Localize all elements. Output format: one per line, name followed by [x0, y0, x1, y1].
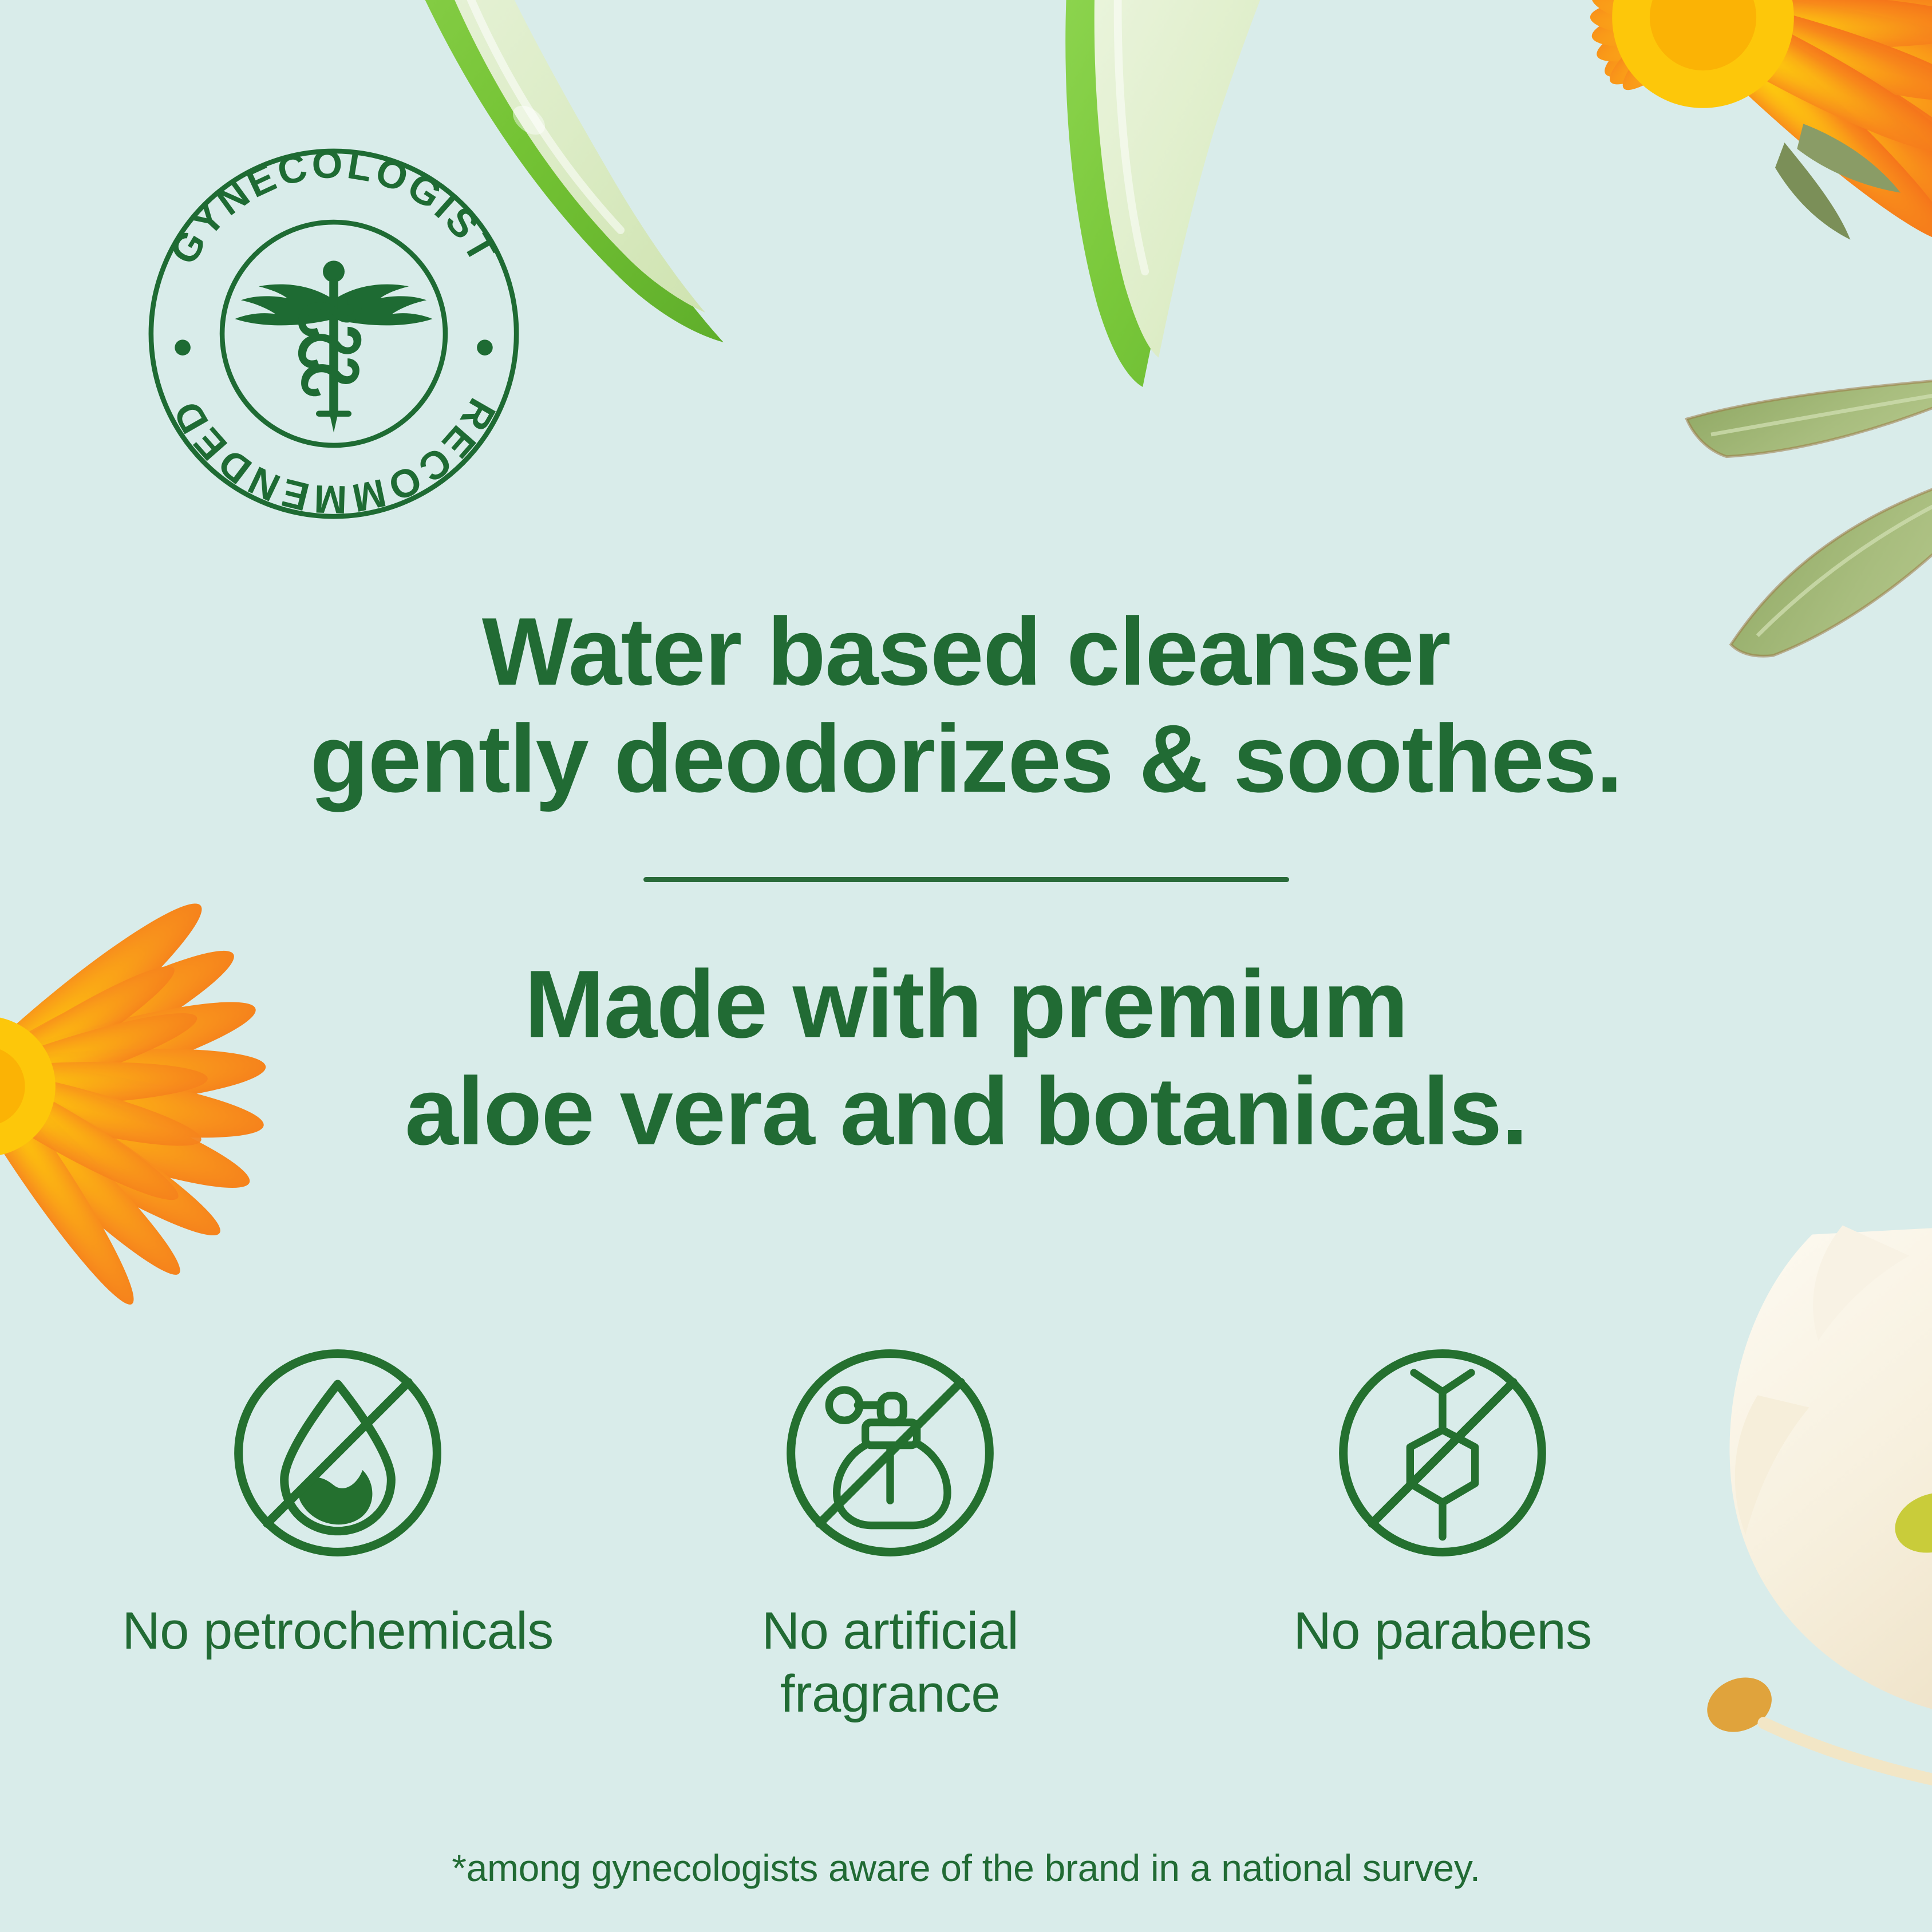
benefit-no-parabens: No parabens — [1196, 1338, 1689, 1662]
benefits-row: No petrochemicals No artificial fragra — [92, 1338, 1689, 1726]
seal-dot-left — [175, 339, 191, 355]
benefit-label-line-1: No parabens — [1293, 1602, 1591, 1660]
seal-arc-top-text: GYNECOLOGIST — [161, 142, 507, 272]
headline-copy-block: Water based cleanser gently deodorizes &… — [0, 598, 1932, 1165]
benefit-label-line-1: No petrochemicals — [122, 1602, 553, 1660]
seal-dot-right — [477, 339, 493, 355]
no-artificial-fragrance-icon — [776, 1338, 1005, 1567]
gynecologist-recommended-seal: GYNECOLOGIST RECOMMENDED — [136, 136, 531, 531]
calendula-flower-top-right — [1374, 0, 1932, 412]
product-benefits-graphic: GYNECOLOGIST RECOMMENDED Water based cle… — [0, 0, 1932, 1932]
benefit-label-no-artificial-fragrance: No artificial fragrance — [762, 1599, 1019, 1726]
benefit-label-line-1: No artificial — [762, 1599, 1019, 1662]
headline-one-line-one: Water based cleanser — [0, 598, 1932, 705]
headline-block-one: Water based cleanser gently deodorizes &… — [0, 598, 1932, 813]
benefit-label-no-parabens: No parabens — [1293, 1599, 1591, 1662]
headline-two-line-two: aloe vera and botanicals. — [0, 1058, 1932, 1165]
no-parabens-icon — [1328, 1338, 1557, 1567]
no-petrochemicals-icon — [223, 1338, 452, 1567]
benefit-label-no-petrochemicals: No petrochemicals — [122, 1599, 553, 1662]
divider-wrapper — [0, 877, 1932, 882]
headline-two-line-one: Made with premium — [0, 951, 1932, 1058]
headline-one-line-two: gently deodorizes & soothes. — [0, 705, 1932, 812]
section-divider — [643, 877, 1289, 882]
aloe-vera-slice-right — [950, 0, 1362, 389]
headline-block-two: Made with premium aloe vera and botanica… — [0, 951, 1932, 1165]
benefit-label-line-2: fragrance — [762, 1662, 1019, 1725]
caduceus-icon — [235, 260, 433, 432]
footnote-disclaimer: *among gynecologists aware of the brand … — [0, 1846, 1932, 1890]
benefit-no-petrochemicals: No petrochemicals — [92, 1338, 584, 1662]
benefit-no-artificial-fragrance: No artificial fragrance — [644, 1338, 1136, 1726]
